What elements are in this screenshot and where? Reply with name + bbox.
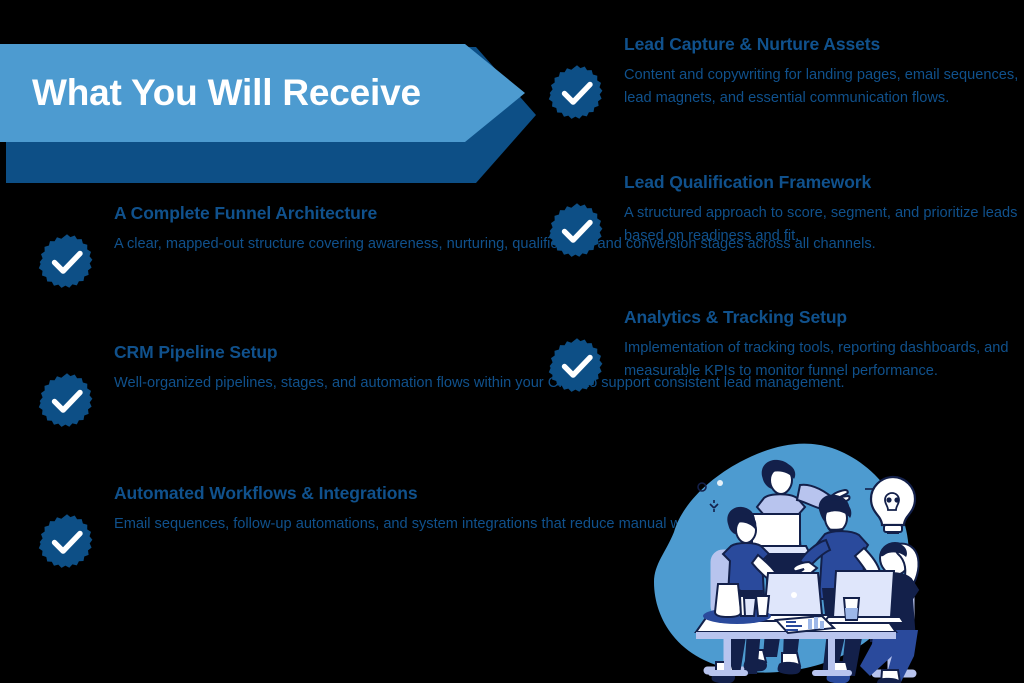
feature-description: A structured approach to score, segment,…: [624, 202, 1024, 247]
feature-text-block: Analytics & Tracking Setup Implementatio…: [606, 307, 1024, 382]
feature-title: Lead Capture & Nurture Assets: [624, 34, 1024, 55]
feature-text-block: Lead Capture & Nurture Assets Content an…: [606, 34, 1024, 109]
laptop-table-right: [824, 571, 904, 623]
check-badge-icon: [38, 513, 96, 571]
infographic-page: What You Will Receive A Complete Funnel …: [0, 0, 1024, 683]
check-badge-icon: [38, 233, 96, 291]
header-banner: What You Will Receive: [0, 27, 560, 172]
feature-description: Content and copywriting for landing page…: [624, 64, 1024, 109]
feature-title: Analytics & Tracking Setup: [624, 307, 1024, 328]
feature-item-lead-capture: Lead Capture & Nurture Assets Content an…: [548, 34, 1024, 122]
feature-item-analytics-tracking: Analytics & Tracking Setup Implementatio…: [548, 307, 1024, 395]
page-title: What You Will Receive: [0, 72, 421, 114]
feature-description: Implementation of tracking tools, report…: [624, 337, 1024, 382]
check-badge-icon: [548, 64, 606, 122]
decor-dot: [717, 480, 723, 486]
check-badge-icon: [38, 372, 96, 430]
check-badge-icon: [548, 202, 606, 260]
check-badge-icon: [548, 337, 606, 395]
feature-item-lead-qualification: Lead Qualification Framework A structure…: [548, 172, 1024, 260]
team-meeting-illustration: [636, 440, 966, 683]
feature-text-block: Lead Qualification Framework A structure…: [606, 172, 1024, 247]
glass-right: [844, 598, 859, 620]
feature-title: Lead Qualification Framework: [624, 172, 1024, 193]
banner-face-layer: What You Will Receive: [0, 44, 525, 142]
